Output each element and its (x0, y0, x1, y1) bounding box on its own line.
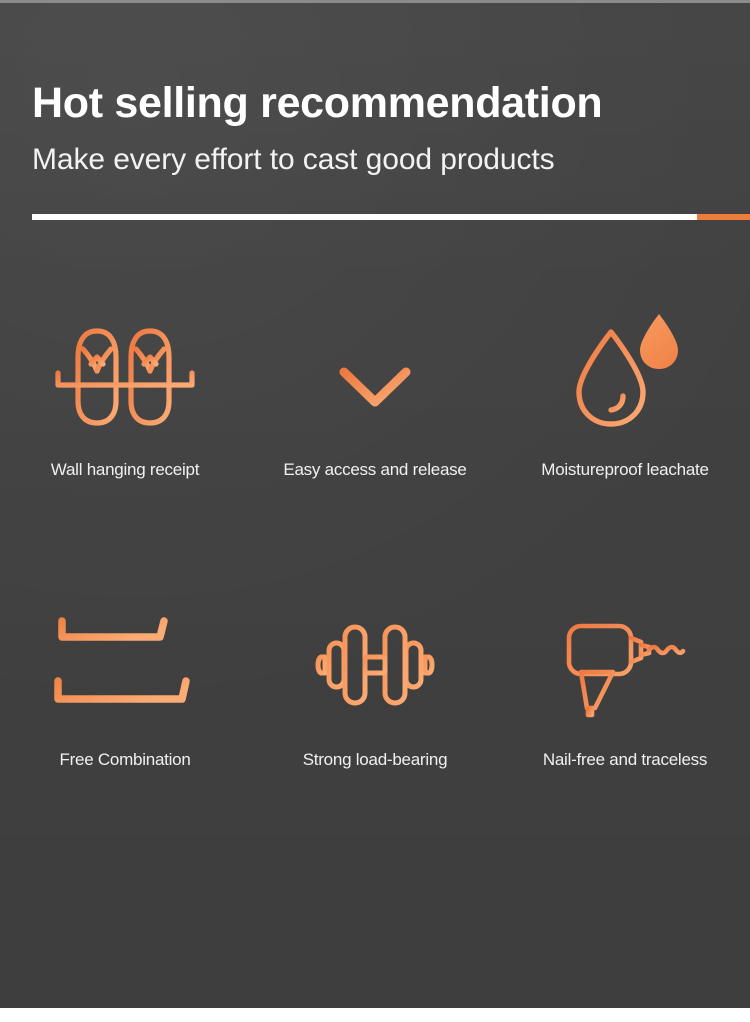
divider-white-segment (32, 214, 697, 220)
top-hairline (0, 0, 750, 3)
dumbbell-icon (250, 580, 500, 750)
water-droplets-icon (500, 290, 750, 460)
feature-grid: Wall hanging receipt (0, 290, 750, 870)
header-divider (32, 214, 750, 220)
banner-header: Hot selling recommendation Make every ef… (32, 80, 718, 176)
feature-item: Nail-free and traceless (500, 580, 750, 870)
download-arrow-icon (250, 290, 500, 460)
bottom-white-strip (0, 1008, 750, 1022)
feature-label: Wall hanging receipt (51, 460, 199, 480)
promo-banner: Hot selling recommendation Make every ef… (0, 0, 750, 1008)
feature-item: Moistureproof leachate (500, 290, 750, 580)
power-drill-icon (500, 580, 750, 750)
feature-item: Wall hanging receipt (0, 290, 250, 580)
divider-accent-segment (697, 214, 750, 220)
feature-item: Easy access and release (250, 290, 500, 580)
feature-label: Moistureproof leachate (541, 460, 708, 480)
feature-label: Free Combination (59, 750, 190, 770)
feature-label: Easy access and release (283, 460, 466, 480)
feature-label: Nail-free and traceless (543, 750, 707, 770)
page-subtitle: Make every effort to cast good products (32, 143, 718, 176)
double-rail-icon (0, 580, 250, 750)
page-title: Hot selling recommendation (32, 80, 718, 126)
flip-flop-rack-icon (0, 290, 250, 460)
feature-label: Strong load-bearing (303, 750, 448, 770)
feature-item: Free Combination (0, 580, 250, 870)
feature-item: Strong load-bearing (250, 580, 500, 870)
